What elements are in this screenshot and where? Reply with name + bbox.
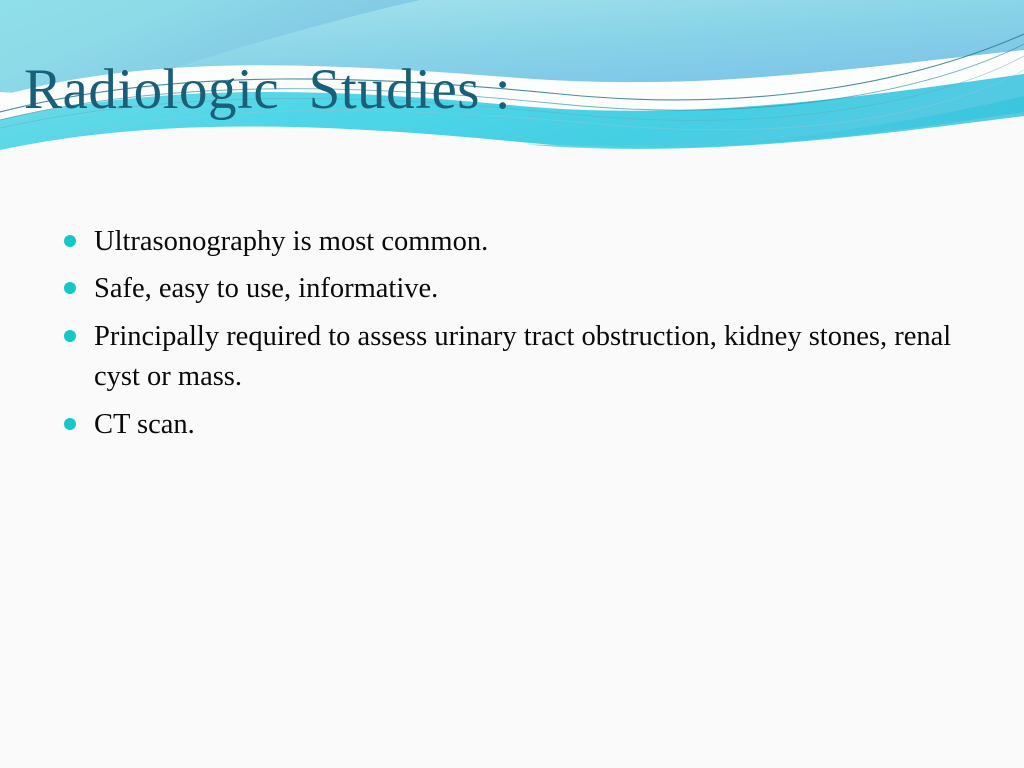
list-item: Principally required to assess urinary t… (60, 317, 960, 398)
list-item-text: Principally required to assess urinary t… (94, 317, 960, 398)
bullet-dot-icon (64, 235, 76, 247)
list-item-text: Ultrasonography is most common. (94, 222, 960, 262)
list-item-text: CT scan. (94, 405, 960, 445)
bullet-dot-icon (64, 282, 76, 294)
bullet-list: Ultrasonography is most common. Safe, ea… (60, 222, 960, 452)
list-item-text: Safe, easy to use, informative. (94, 269, 960, 309)
page-title: Radiologic Studies : (24, 60, 511, 120)
bullet-dot-icon (64, 418, 76, 430)
list-item: CT scan. (60, 405, 960, 445)
wave-fade-bottom (0, 116, 1024, 200)
list-item: Safe, easy to use, informative. (60, 269, 960, 309)
bullet-dot-icon (64, 330, 76, 342)
slide-canvas: Radiologic Studies : Ultrasonography is … (0, 0, 1024, 768)
list-item: Ultrasonography is most common. (60, 222, 960, 262)
